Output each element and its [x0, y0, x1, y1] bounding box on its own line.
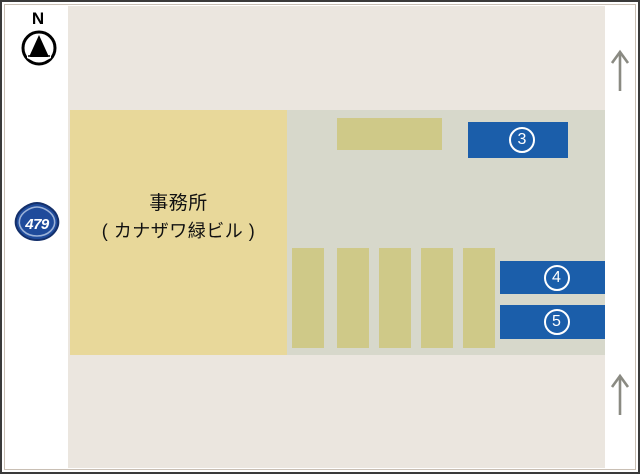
traffic-arrow-bottom-icon	[608, 370, 632, 416]
traffic-arrow-top-icon	[608, 46, 632, 92]
parking-lot-map: 事務所 ( カナザワ緑ビル ) 3 4 5 N 479	[0, 0, 640, 474]
parking-bay-vertical-4	[421, 248, 453, 348]
parking-stall-5[interactable]: 5	[500, 305, 605, 339]
route-number-label: 479	[13, 200, 61, 244]
office-label-line2: ( カナザワ緑ビル )	[70, 218, 287, 244]
compass-north-icon: N	[14, 10, 62, 86]
route-479-shield-icon: 479	[13, 200, 61, 244]
office-label-line1: 事務所	[70, 190, 287, 218]
arrow-up-glyph-icon	[608, 370, 632, 416]
parking-bay-horizontal	[337, 118, 442, 150]
office-building-label: 事務所 ( カナザワ緑ビル )	[70, 190, 287, 244]
compass-north-label: N	[14, 10, 62, 27]
parking-stall-3[interactable]: 3	[468, 122, 568, 158]
parking-bay-vertical-3	[379, 248, 411, 348]
compass-rose-icon	[21, 30, 57, 66]
stall-number-badge-5: 5	[544, 309, 570, 335]
arrow-up-glyph-icon	[608, 46, 632, 92]
stall-number-badge-4: 4	[544, 265, 570, 291]
parking-bay-vertical-2	[337, 248, 369, 348]
parking-bay-vertical-5	[463, 248, 495, 348]
parking-bay-vertical-1	[292, 248, 324, 348]
stall-number-badge-3: 3	[509, 127, 535, 153]
parking-stall-4[interactable]: 4	[500, 261, 605, 294]
